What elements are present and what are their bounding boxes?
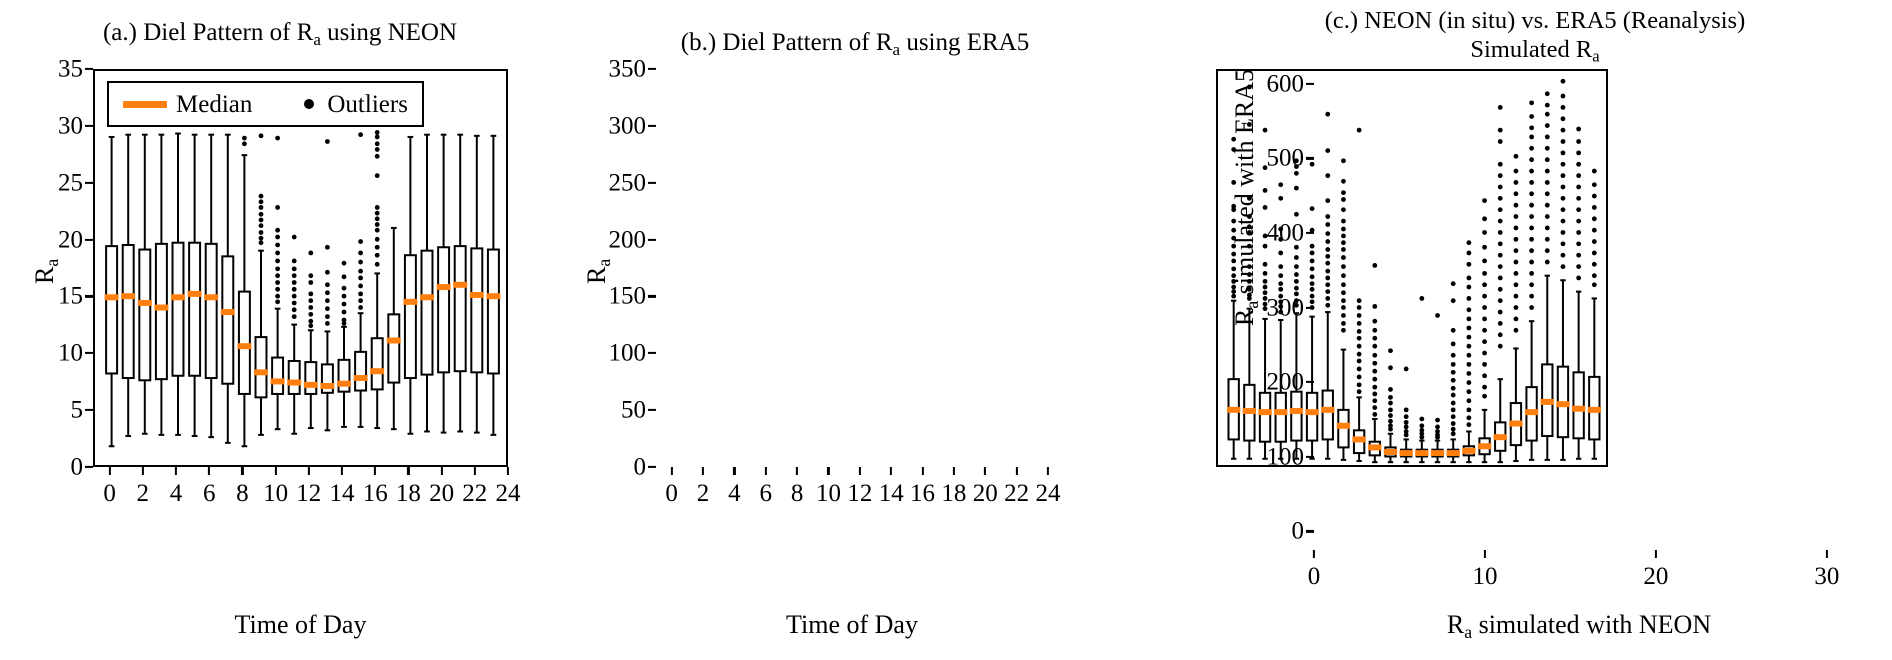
x-tick-mark <box>275 467 277 475</box>
outlier-point <box>325 282 330 287</box>
outlier-point <box>375 154 380 159</box>
outlier-point <box>308 251 313 256</box>
panel-b-x-axis-label: Time of Day <box>656 610 1048 640</box>
x-tick-label: 18 <box>941 481 966 506</box>
outlier-point <box>259 223 264 228</box>
x-tick-mark <box>1047 467 1049 475</box>
panel-c-ylabel-rest: simulated with ERA5 <box>1230 69 1259 301</box>
y-tick-mark <box>85 466 93 468</box>
y-tick-mark <box>1306 232 1314 234</box>
x-tick-label: 30 <box>1814 564 1839 589</box>
outlier-dot-swatch-icon <box>304 99 314 109</box>
x-tick-mark <box>407 467 409 475</box>
outlier-point <box>325 290 330 295</box>
x-tick-label: 4 <box>170 481 183 506</box>
y-tick-mark <box>85 295 93 297</box>
outlier-point <box>308 291 313 296</box>
outlier-point <box>325 314 330 319</box>
panel-b-title-prefix: (b.) Diel Pattern of R <box>681 29 893 56</box>
y-tick-mark <box>648 125 656 127</box>
outlier-point <box>342 286 347 291</box>
x-tick-mark <box>208 467 210 475</box>
outlier-point <box>292 266 297 271</box>
box-plot-item <box>304 251 318 429</box>
outlier-point <box>358 291 363 296</box>
outlier-point <box>342 261 347 266</box>
outlier-point <box>358 269 363 274</box>
outlier-point <box>275 136 280 141</box>
outlier-point <box>275 243 280 248</box>
y-tick-mark <box>648 68 656 70</box>
x-tick-label: 6 <box>760 481 773 506</box>
x-tick-mark <box>341 467 343 475</box>
y-tick-label: 0 <box>1224 519 1315 544</box>
x-tick-mark <box>796 467 798 475</box>
y-tick-mark <box>648 295 656 297</box>
box-plot-item <box>486 136 500 435</box>
outlier-point <box>325 270 330 275</box>
y-tick-label: 300 <box>566 113 657 138</box>
x-tick-label: 14 <box>330 481 355 506</box>
panel-a-plot-area: Median Outliers <box>93 69 508 467</box>
outlier-point <box>358 251 363 256</box>
outlier-point <box>325 321 330 326</box>
x-tick-mark <box>142 467 144 475</box>
outlier-point <box>342 274 347 279</box>
x-tick-label: 6 <box>203 481 216 506</box>
box-plot-item <box>154 135 168 435</box>
x-tick-label: 22 <box>462 481 487 506</box>
y-tick-label: 200 <box>1224 370 1315 395</box>
y-tick-mark <box>648 466 656 468</box>
outlier-point <box>275 251 280 256</box>
y-tick-label: 250 <box>566 170 657 195</box>
x-tick-mark <box>702 467 704 475</box>
outlier-point <box>375 130 380 135</box>
outlier-point <box>259 218 264 223</box>
x-tick-label: 12 <box>847 481 872 506</box>
outlier-point <box>308 273 313 278</box>
outlier-point <box>325 139 330 144</box>
outlier-point <box>275 228 280 233</box>
outlier-point <box>292 259 297 264</box>
y-tick-label: 5 <box>3 398 94 423</box>
y-tick-mark <box>85 68 93 70</box>
y-tick-mark <box>648 352 656 354</box>
outlier-point <box>375 205 380 210</box>
y-tick-label: 35 <box>3 57 94 82</box>
panel-c-title-line2-prefix: Simulated R <box>1470 36 1592 63</box>
panel-c-title-line1: (c.) NEON (in situ) vs. ERA5 (Reanalysis… <box>1170 6 1892 35</box>
outlier-point <box>292 294 297 299</box>
x-tick-label: 10 <box>816 481 841 506</box>
panel-a-legend: Median Outliers <box>107 81 424 127</box>
box-plot-item <box>254 133 268 434</box>
outlier-point <box>308 280 313 285</box>
panel-a: (a.) Diel Pattern of Ra using NEON Media… <box>0 0 560 660</box>
panel-c-ylabel-sub: a <box>1242 301 1262 309</box>
x-tick-label: 16 <box>910 481 935 506</box>
box-plot-item <box>121 135 135 436</box>
outlier-point <box>275 259 280 264</box>
outlier-point <box>292 301 297 306</box>
box-plot-item <box>387 228 401 429</box>
box-plot-item <box>453 135 467 432</box>
outlier-point <box>375 135 380 140</box>
outlier-point <box>375 141 380 146</box>
panel-c-ylabel-text: R <box>1230 309 1259 326</box>
x-tick-label: 8 <box>791 481 804 506</box>
panel-a-title: (a.) Diel Pattern of Ra using NEON <box>30 18 530 55</box>
legend-label-median: Median <box>176 92 252 117</box>
box-plot-item <box>237 136 251 447</box>
x-tick-label: 10 <box>1472 564 1497 589</box>
y-tick-label: 10 <box>3 341 94 366</box>
box-plot-item <box>420 135 434 432</box>
x-tick-label: 12 <box>296 481 321 506</box>
outlier-point <box>259 212 264 217</box>
box-plot-item <box>221 135 235 443</box>
x-tick-mark <box>733 467 735 475</box>
x-tick-mark <box>1484 550 1486 558</box>
y-tick-mark <box>85 409 93 411</box>
box-plot-item <box>287 235 301 434</box>
box-plot-item <box>320 139 334 430</box>
outlier-point <box>308 319 313 324</box>
x-tick-label: 20 <box>973 481 998 506</box>
median-line-swatch-icon <box>123 101 167 108</box>
outlier-point <box>292 307 297 312</box>
box-plot-item <box>105 137 119 446</box>
outlier-point <box>292 280 297 285</box>
x-tick-mark <box>441 467 443 475</box>
x-tick-label: 16 <box>363 481 388 506</box>
outlier-point <box>375 147 380 152</box>
panel-a-x-axis-label: Time of Day <box>93 610 508 640</box>
x-tick-mark <box>765 467 767 475</box>
outlier-point <box>259 194 264 199</box>
box-plot-item <box>470 136 484 433</box>
outlier-point <box>325 306 330 311</box>
x-tick-mark <box>890 467 892 475</box>
outlier-point <box>358 276 363 281</box>
panel-c-title: (c.) NEON (in situ) vs. ERA5 (Reanalysis… <box>1170 6 1892 71</box>
outlier-point <box>342 294 347 299</box>
outlier-point <box>325 298 330 303</box>
outlier-point <box>358 298 363 303</box>
panel-a-title-prefix: (a.) Diel Pattern of R <box>103 19 313 46</box>
outlier-point <box>358 239 363 244</box>
outlier-point <box>308 312 313 317</box>
panel-b-ylabel-text: R <box>582 267 611 284</box>
outlier-point <box>292 273 297 278</box>
outlier-point <box>259 199 264 204</box>
outlier-point <box>242 136 247 141</box>
outlier-point <box>375 245 380 250</box>
outlier-point <box>342 310 347 315</box>
x-tick-label: 2 <box>697 481 710 506</box>
outlier-point <box>375 262 380 267</box>
x-tick-mark <box>241 467 243 475</box>
x-tick-mark <box>921 467 923 475</box>
y-tick-mark <box>1306 157 1314 159</box>
x-tick-mark <box>1313 550 1315 558</box>
box-plot-item <box>370 130 384 428</box>
x-tick-label: 14 <box>879 481 904 506</box>
x-tick-mark <box>507 467 509 475</box>
y-tick-mark <box>648 409 656 411</box>
outlier-point <box>275 235 280 240</box>
box-plot-item <box>337 261 351 427</box>
panel-a-y-axis-label: Ra <box>30 259 63 284</box>
panel-c-xlabel-rest: simulated with NEON <box>1472 610 1711 639</box>
panel-a-ylabel-text: R <box>30 267 59 284</box>
y-tick-mark <box>1306 456 1314 458</box>
box-plot-item <box>204 135 218 437</box>
y-tick-mark <box>85 238 93 240</box>
x-tick-mark <box>859 467 861 475</box>
x-tick-mark <box>984 467 986 475</box>
panel-c-xlabel-sub: a <box>1464 622 1472 642</box>
legend-label-outliers: Outliers <box>327 92 408 117</box>
box-plot-item <box>138 135 152 434</box>
outlier-point <box>275 287 280 292</box>
x-tick-label: 4 <box>728 481 741 506</box>
outlier-point <box>375 216 380 221</box>
outlier-point <box>275 205 280 210</box>
x-tick-mark <box>953 467 955 475</box>
x-tick-label: 18 <box>396 481 421 506</box>
outlier-point <box>342 321 347 326</box>
outlier-point <box>358 132 363 137</box>
outlier-point <box>358 260 363 265</box>
x-tick-label: 20 <box>1643 564 1668 589</box>
box-plot-series <box>105 130 501 446</box>
x-tick-label: 8 <box>236 481 249 506</box>
box-plot-item <box>271 136 285 430</box>
outlier-point <box>375 173 380 178</box>
outlier-point <box>259 236 264 241</box>
y-tick-label: 350 <box>566 57 657 82</box>
outlier-point <box>292 314 297 319</box>
y-tick-mark <box>1306 83 1314 85</box>
figure-root: (a.) Diel Pattern of Ra using NEON Media… <box>0 0 1892 660</box>
box-plot-item <box>437 135 451 433</box>
x-tick-mark <box>827 467 829 475</box>
outlier-point <box>375 211 380 216</box>
outlier-point <box>358 305 363 310</box>
outlier-point <box>275 266 280 271</box>
y-tick-label: 50 <box>566 398 657 423</box>
box-plot-item <box>171 134 185 435</box>
panel-c-y-axis-label: Ra simulated with ERA5 <box>1230 69 1263 326</box>
x-tick-label: 24 <box>496 481 521 506</box>
x-tick-label: 22 <box>1004 481 1029 506</box>
outlier-point <box>375 228 380 233</box>
panel-c: (c.) NEON (in situ) vs. ERA5 (Reanalysis… <box>1180 0 1892 660</box>
x-tick-mark <box>1016 467 1018 475</box>
x-tick-label: 24 <box>1036 481 1061 506</box>
y-tick-mark <box>1306 530 1314 532</box>
y-tick-label: 200 <box>566 227 657 252</box>
outlier-point <box>375 253 380 258</box>
outlier-point <box>308 323 313 328</box>
outlier-point <box>259 230 264 235</box>
panel-b-ylabel-sub: a <box>594 259 614 267</box>
panel-a-canvas <box>95 71 508 467</box>
outlier-point <box>259 205 264 210</box>
outlier-point <box>358 284 363 289</box>
outlier-point <box>375 222 380 227</box>
y-tick-mark <box>85 125 93 127</box>
panel-c-x-axis-label: Ra simulated with NEON <box>1314 610 1844 643</box>
x-tick-mark <box>374 467 376 475</box>
outlier-point <box>275 294 280 299</box>
x-tick-mark <box>1826 550 1828 558</box>
y-tick-label: 0 <box>3 455 94 480</box>
y-tick-label: 15 <box>3 284 94 309</box>
box-plot-item <box>188 135 202 436</box>
x-tick-mark <box>1655 550 1657 558</box>
outlier-point <box>275 273 280 278</box>
x-tick-mark <box>671 467 673 475</box>
y-tick-mark <box>648 182 656 184</box>
y-tick-mark <box>85 352 93 354</box>
y-tick-mark <box>648 238 656 240</box>
panel-b-title: (b.) Diel Pattern of Ra using ERA5 <box>595 28 1115 65</box>
x-tick-label: 2 <box>137 481 150 506</box>
y-tick-label: 100 <box>566 341 657 366</box>
y-tick-mark <box>1306 381 1314 383</box>
y-tick-mark <box>85 182 93 184</box>
panel-a-title-suffix: using NEON <box>321 19 457 46</box>
box-plot-item <box>403 137 417 434</box>
x-tick-label: 0 <box>1308 564 1321 589</box>
panel-b-title-sub: a <box>893 40 901 59</box>
outlier-point <box>342 302 347 307</box>
box-plot-item <box>354 132 368 427</box>
panel-b-title-suffix: using ERA5 <box>900 29 1029 56</box>
x-tick-mark <box>175 467 177 475</box>
outlier-point <box>259 133 264 138</box>
panel-b-y-axis-label: Ra <box>582 259 615 284</box>
x-tick-label: 0 <box>665 481 678 506</box>
y-tick-label: 25 <box>3 170 94 195</box>
panel-c-xlabel-text: R <box>1447 610 1464 639</box>
y-tick-label: 0 <box>566 455 657 480</box>
outlier-point <box>375 237 380 242</box>
outlier-point <box>259 240 264 245</box>
outlier-point <box>292 287 297 292</box>
panel-c-title-line2: Simulated Ra <box>1170 35 1892 71</box>
outlier-point <box>292 235 297 240</box>
outlier-point <box>308 305 313 310</box>
y-tick-label: 100 <box>1224 444 1315 469</box>
x-tick-label: 0 <box>103 481 116 506</box>
x-tick-mark <box>474 467 476 475</box>
panel-a-ylabel-sub: a <box>42 259 62 267</box>
x-tick-label: 20 <box>429 481 454 506</box>
panel-b: (b.) Diel Pattern of Ra using ERA5 05010… <box>560 0 1180 660</box>
y-tick-mark <box>1306 307 1314 309</box>
x-tick-mark <box>109 467 111 475</box>
legend-item-median: Median <box>123 92 252 117</box>
panel-c-title-line2-sub: a <box>1592 47 1599 66</box>
outlier-point <box>275 280 280 285</box>
legend-item-outliers: Outliers <box>278 92 408 117</box>
y-tick-label: 150 <box>566 284 657 309</box>
x-tick-label: 10 <box>263 481 288 506</box>
y-tick-label: 30 <box>3 113 94 138</box>
y-tick-label: 20 <box>3 227 94 252</box>
outlier-point <box>308 298 313 303</box>
x-tick-mark <box>308 467 310 475</box>
outlier-point <box>242 141 247 146</box>
outlier-point <box>325 245 330 250</box>
panel-a-title-sub: a <box>313 30 321 49</box>
outlier-point <box>275 299 280 304</box>
